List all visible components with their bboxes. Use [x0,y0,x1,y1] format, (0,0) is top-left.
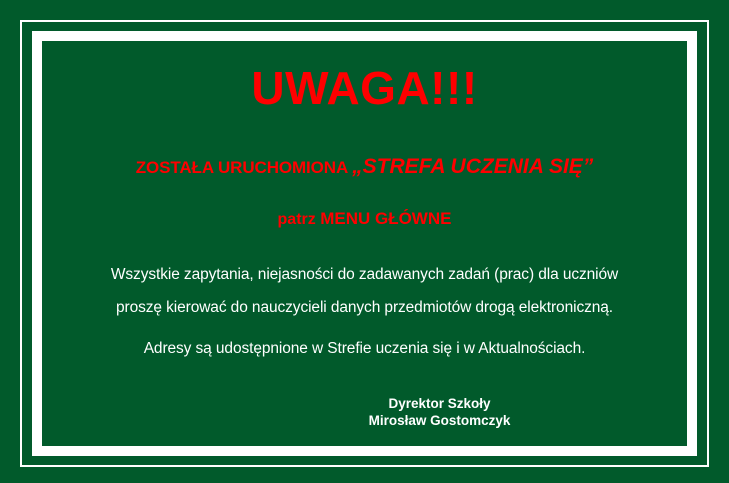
subtitle-line: ZOSTAŁA URUCHOMIONA „STREFA UCZENIA SIĘ” [136,156,594,177]
poster-content: UWAGA!!! ZOSTAŁA URUCHOMIONA „STREFA UCZ… [42,41,687,446]
headline-uwaga: UWAGA!!! [251,65,477,111]
paragraph-two-line: Adresy są udostępnione w Strefie uczenia… [42,332,687,365]
signature-block: Dyrektor Szkoły Mirosław Gostomczyk [42,395,687,429]
see-also-menu-label: MENU GŁÓWNE [320,209,451,228]
announcement-poster: UWAGA!!! ZOSTAŁA URUCHOMIONA „STREFA UCZ… [0,0,729,483]
paragraph-one: Wszystkie zapytania, niejasności do zada… [42,258,687,324]
subtitle-lead-text: ZOSTAŁA URUCHOMIONA [136,158,352,177]
paragraph-two: Adresy są udostępnione w Strefie uczenia… [42,332,687,365]
see-also-lead-text: patrz [278,211,321,228]
subtitle-quoted-phrase: „STREFA UCZENIA SIĘ” [352,155,593,178]
signature-name: Mirosław Gostomczyk [192,412,687,429]
see-also-line: patrz MENU GŁÓWNE [278,210,452,228]
signature-title: Dyrektor Szkoły [192,395,687,412]
paragraph-one-line: Wszystkie zapytania, niejasności do zada… [42,258,687,291]
paragraph-one-line: proszę kierować do nauczycieli danych pr… [42,291,687,324]
